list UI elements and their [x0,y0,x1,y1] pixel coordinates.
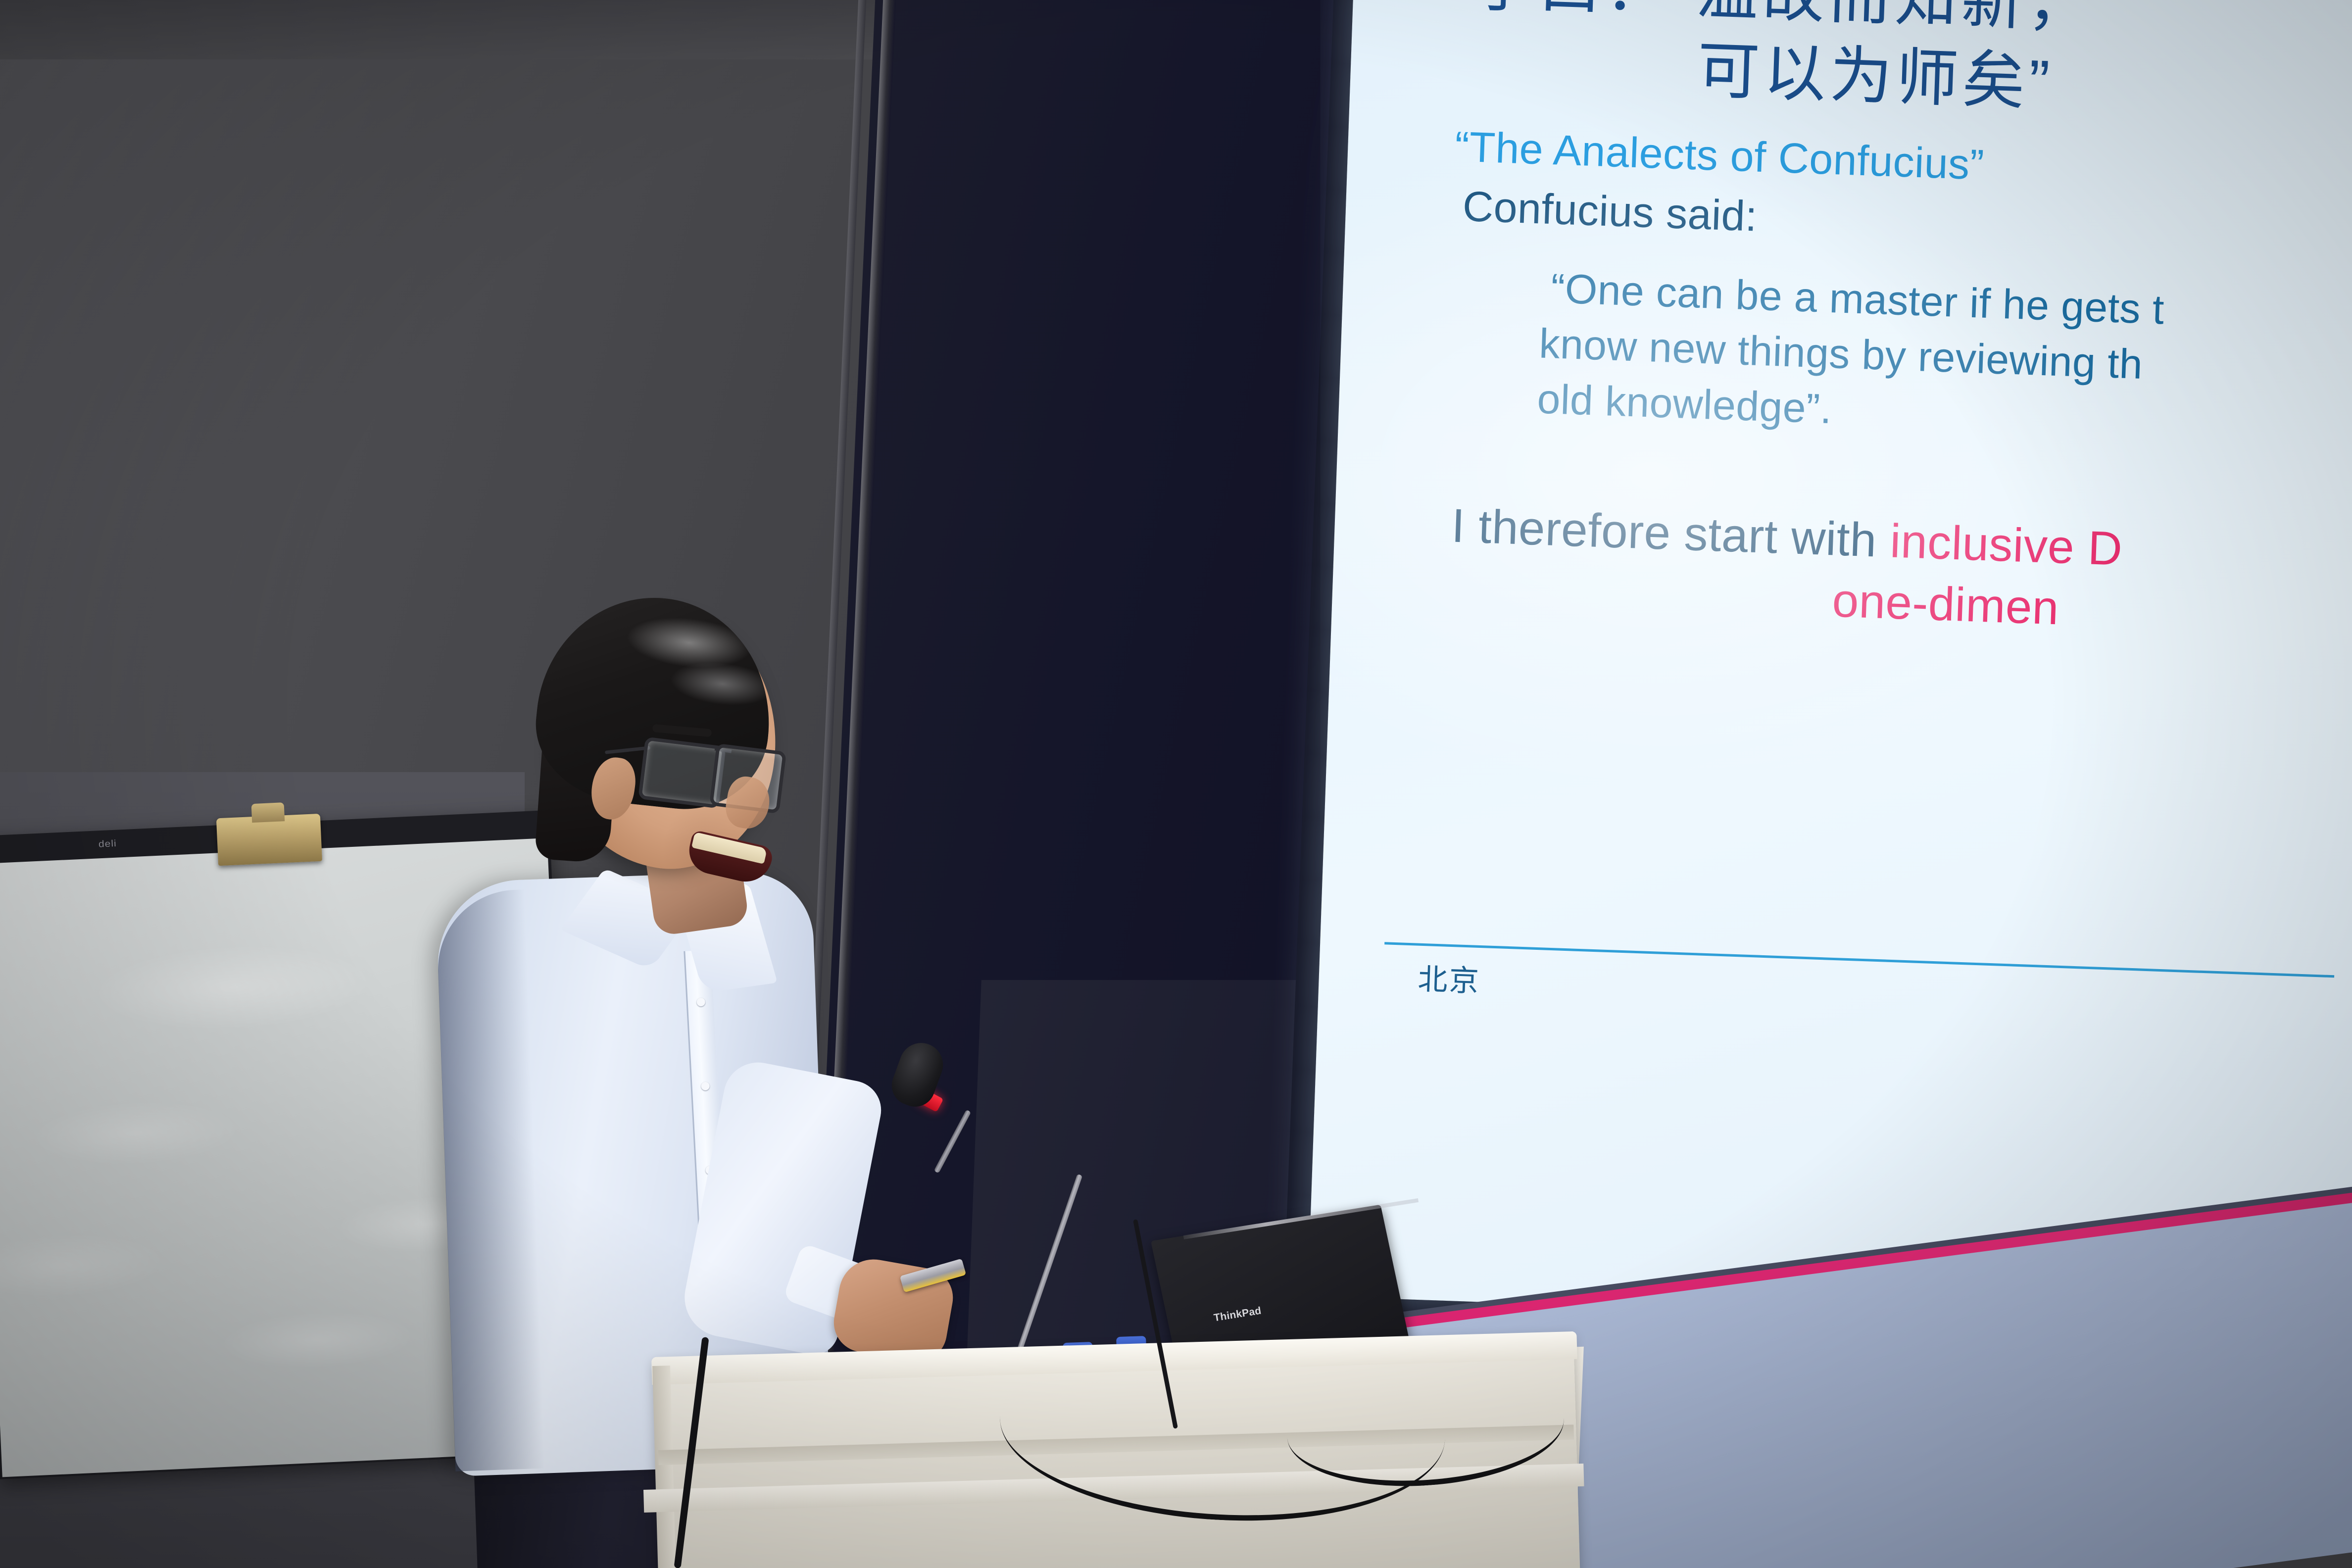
slide-footer-rule [1384,942,2334,978]
shirt-button [701,1082,710,1091]
shirt-button [696,998,705,1007]
slide-closing-plain: I therefore start with [1451,499,1891,568]
binder-clip-icon [216,814,322,866]
slide-closing-line2: one-dimen [1831,573,2060,636]
slide-attribution-en: Confucius said: [1462,182,1759,242]
slide-quote-cn-line2: 可以为师矣” [1696,20,2055,122]
slide: 《论语》 子曰：“温故而知新， 可以为师矣” “The Analects of … [1308,0,2352,1332]
ceiling-band [0,0,921,59]
slide-closing-highlight-1: inclusive D [1889,514,2123,575]
lecture-hall-photo: deli 《论语》 子曰：“温故而知新， 可以为师矣” “The Analect… [0,0,2352,1568]
slide-closing-line1: I therefore start with inclusive D [1451,499,2123,577]
slide-quote-en-line3: old knowledge”. [1536,375,1833,433]
slide-footer-location: 北京 [1417,955,1481,1000]
whiteboard-brand-label: deli [98,838,117,850]
slide-source-en: “The Analects of Confucius” [1454,122,1985,190]
projection-screen: 《论语》 子曰：“温故而知新， 可以为师矣” “The Analects of … [1308,0,2352,1332]
